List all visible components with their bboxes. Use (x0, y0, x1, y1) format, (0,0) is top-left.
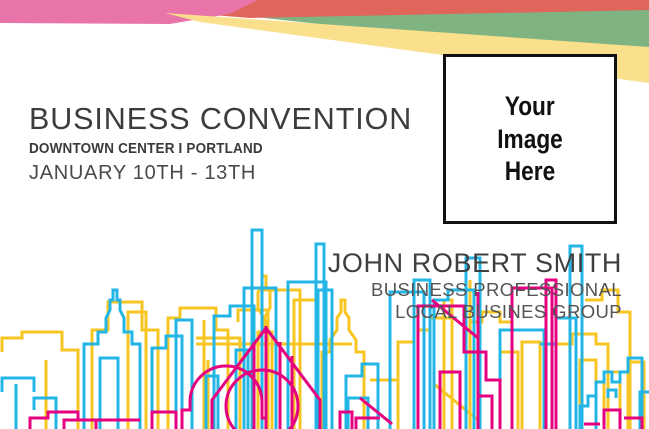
attendee-info-block: JOHN ROBERT SMITH BUSINESS PROFESSIONAL … (328, 249, 622, 323)
ribbon-red (178, 0, 649, 18)
page-title: BUSINESS CONVENTION (29, 104, 412, 135)
image-placeholder-line-2: Image (497, 123, 563, 156)
event-ticket-card: BUSINESS CONVENTION DOWNTOWN CENTER I PO… (0, 0, 649, 429)
event-info-block: BUSINESS CONVENTION DOWNTOWN CENTER I PO… (29, 104, 412, 185)
ribbon-green (240, 5, 649, 60)
attendee-name-label: JOHN ROBERT SMITH (328, 249, 622, 278)
image-placeholder-line-1: Your (505, 90, 555, 123)
image-placeholder-frame[interactable]: Your Image Here (443, 54, 617, 224)
attendee-organization-label: LOCAL BUSINES GROUP (328, 302, 622, 323)
attendee-title-label: BUSINESS PROFESSIONAL (328, 280, 622, 301)
event-dates-label: JANUARY 10TH - 13TH (29, 162, 412, 185)
ribbon-blue (510, 0, 649, 14)
event-venue-label: DOWNTOWN CENTER I PORTLAND (29, 141, 385, 157)
ribbon-pink (0, 0, 258, 24)
image-placeholder-line-3: Here (505, 155, 555, 188)
